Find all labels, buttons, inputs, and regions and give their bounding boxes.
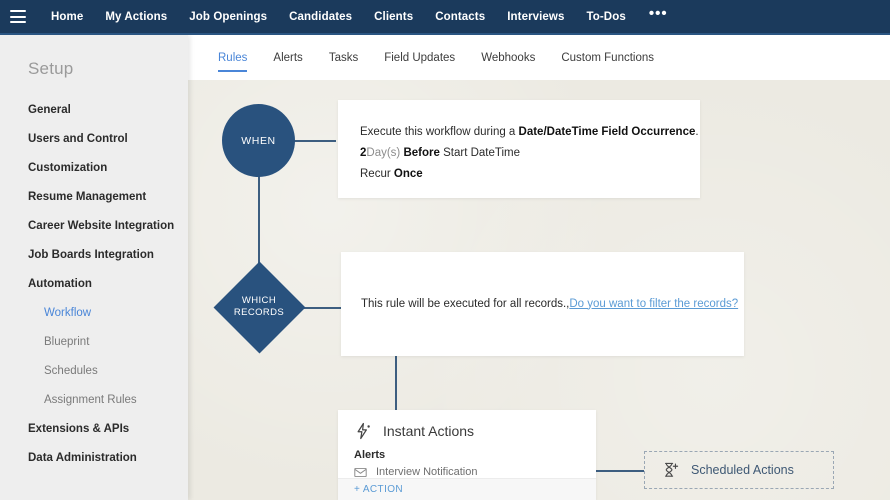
sidebar-item-resume-management[interactable]: Resume Management xyxy=(0,182,188,211)
sidebar-item-users-and-control[interactable]: Users and Control xyxy=(0,124,188,153)
instant-actions-header: Instant Actions xyxy=(338,410,596,440)
when-card-line2-unit: Day(s) xyxy=(366,147,403,159)
connector-instant-to-scheduled xyxy=(596,470,644,472)
tab-custom-functions[interactable]: Custom Functions xyxy=(561,35,654,80)
setup-sidebar: Setup General Users and Control Customiz… xyxy=(0,35,188,500)
tab-rules[interactable]: Rules xyxy=(218,35,247,80)
sidebar-item-customization[interactable]: Customization xyxy=(0,153,188,182)
nav-item-candidates[interactable]: Candidates xyxy=(278,11,363,23)
panel-instant-actions[interactable]: Instant Actions Alerts Interview Notific… xyxy=(338,410,596,500)
which-records-card-text-row: This rule will be executed for all recor… xyxy=(361,294,738,315)
card-which-records[interactable]: This rule will be executed for all recor… xyxy=(341,252,744,356)
sidebar-item-extensions-and-apis[interactable]: Extensions & APIs xyxy=(0,414,188,443)
when-card-line2-bold: Before xyxy=(403,147,439,159)
sidebar-menu-list: General Users and Control Customization … xyxy=(0,79,188,472)
nav-item-interviews[interactable]: Interviews xyxy=(496,11,575,23)
sidebar-item-blueprint[interactable]: Blueprint xyxy=(0,327,188,356)
when-card-line2-suffix: Start DateTime xyxy=(440,147,520,159)
when-card-line1-suffix: . xyxy=(695,126,698,138)
when-card-line3-bold: Once xyxy=(394,168,423,180)
sidebar-item-job-boards-integration[interactable]: Job Boards Integration xyxy=(0,240,188,269)
main-content: Rules Alerts Tasks Field Updates Webhook… xyxy=(188,35,890,500)
envelope-icon xyxy=(354,467,367,478)
instant-actions-footer: + ACTION xyxy=(338,478,596,500)
hourglass-plus-icon xyxy=(662,462,679,479)
app-root: Home My Actions Job Openings Candidates … xyxy=(0,0,890,500)
card-when-condition[interactable]: Execute this workflow during a Date/Date… xyxy=(338,100,700,198)
instant-actions-alert-label: Interview Notification xyxy=(376,466,478,478)
add-action-button[interactable]: + ACTION xyxy=(354,484,403,495)
sidebar-item-schedules[interactable]: Schedules xyxy=(0,356,188,385)
sidebar-item-assignment-rules[interactable]: Assignment Rules xyxy=(0,385,188,414)
sidebar-item-workflow[interactable]: Workflow xyxy=(0,298,188,327)
sidebar-title: Setup xyxy=(0,35,188,79)
node-when-label: WHEN xyxy=(241,135,275,147)
top-navigation-bar: Home My Actions Job Openings Candidates … xyxy=(0,0,890,33)
sidebar-item-data-administration[interactable]: Data Administration xyxy=(0,443,188,472)
connector-when-to-card xyxy=(294,140,336,142)
panel-scheduled-actions[interactable]: Scheduled Actions xyxy=(644,451,834,489)
tab-bar: Rules Alerts Tasks Field Updates Webhook… xyxy=(188,35,890,80)
instant-actions-alert-row[interactable]: Interview Notification xyxy=(354,466,596,478)
filter-records-link[interactable]: Do you want to filter the records? xyxy=(569,298,738,310)
sidebar-item-career-website-integration[interactable]: Career Website Integration xyxy=(0,211,188,240)
nav-item-clients[interactable]: Clients xyxy=(363,11,424,23)
tab-webhooks[interactable]: Webhooks xyxy=(481,35,535,80)
top-navigation-underline xyxy=(0,33,890,35)
instant-actions-title: Instant Actions xyxy=(383,423,474,439)
tab-tasks[interactable]: Tasks xyxy=(329,35,358,80)
sidebar-item-general[interactable]: General xyxy=(0,95,188,124)
instant-actions-section-alerts: Alerts xyxy=(354,449,596,461)
which-records-card-text: This rule will be executed for all recor… xyxy=(361,298,569,310)
when-card-line3-prefix: Recur xyxy=(360,168,394,180)
instant-actions-body: Alerts Interview Notification xyxy=(338,440,596,478)
when-card-line1-prefix: Execute this workflow during a xyxy=(360,126,519,138)
hamburger-menu-icon[interactable] xyxy=(10,10,26,23)
nav-item-todos[interactable]: To-Dos xyxy=(575,11,636,23)
when-card-line-1: Execute this workflow during a Date/Date… xyxy=(360,122,700,143)
lightning-bolt-plus-icon xyxy=(354,422,372,440)
nav-overflow-menu-icon[interactable]: ••• xyxy=(637,10,680,18)
when-card-line1-bold: Date/DateTime Field Occurrence xyxy=(519,126,696,138)
workflow-canvas: WHEN Execute this workflow during a Date… xyxy=(188,80,890,500)
when-card-line-2: 2Day(s) Before Start DateTime xyxy=(360,143,700,164)
tab-alerts[interactable]: Alerts xyxy=(273,35,302,80)
nav-item-job-openings[interactable]: Job Openings xyxy=(178,11,278,23)
node-which-records-shape xyxy=(213,261,305,353)
node-when[interactable]: WHEN xyxy=(222,104,295,177)
node-which-records[interactable]: WHICH RECORDS xyxy=(213,261,305,353)
nav-item-contacts[interactable]: Contacts xyxy=(424,11,496,23)
sidebar-item-automation[interactable]: Automation xyxy=(0,269,188,298)
when-card-line-3: Recur Once xyxy=(360,164,700,185)
scheduled-actions-label: Scheduled Actions xyxy=(691,463,794,477)
nav-item-my-actions[interactable]: My Actions xyxy=(94,11,178,23)
tab-field-updates[interactable]: Field Updates xyxy=(384,35,455,80)
nav-item-home[interactable]: Home xyxy=(40,11,94,23)
